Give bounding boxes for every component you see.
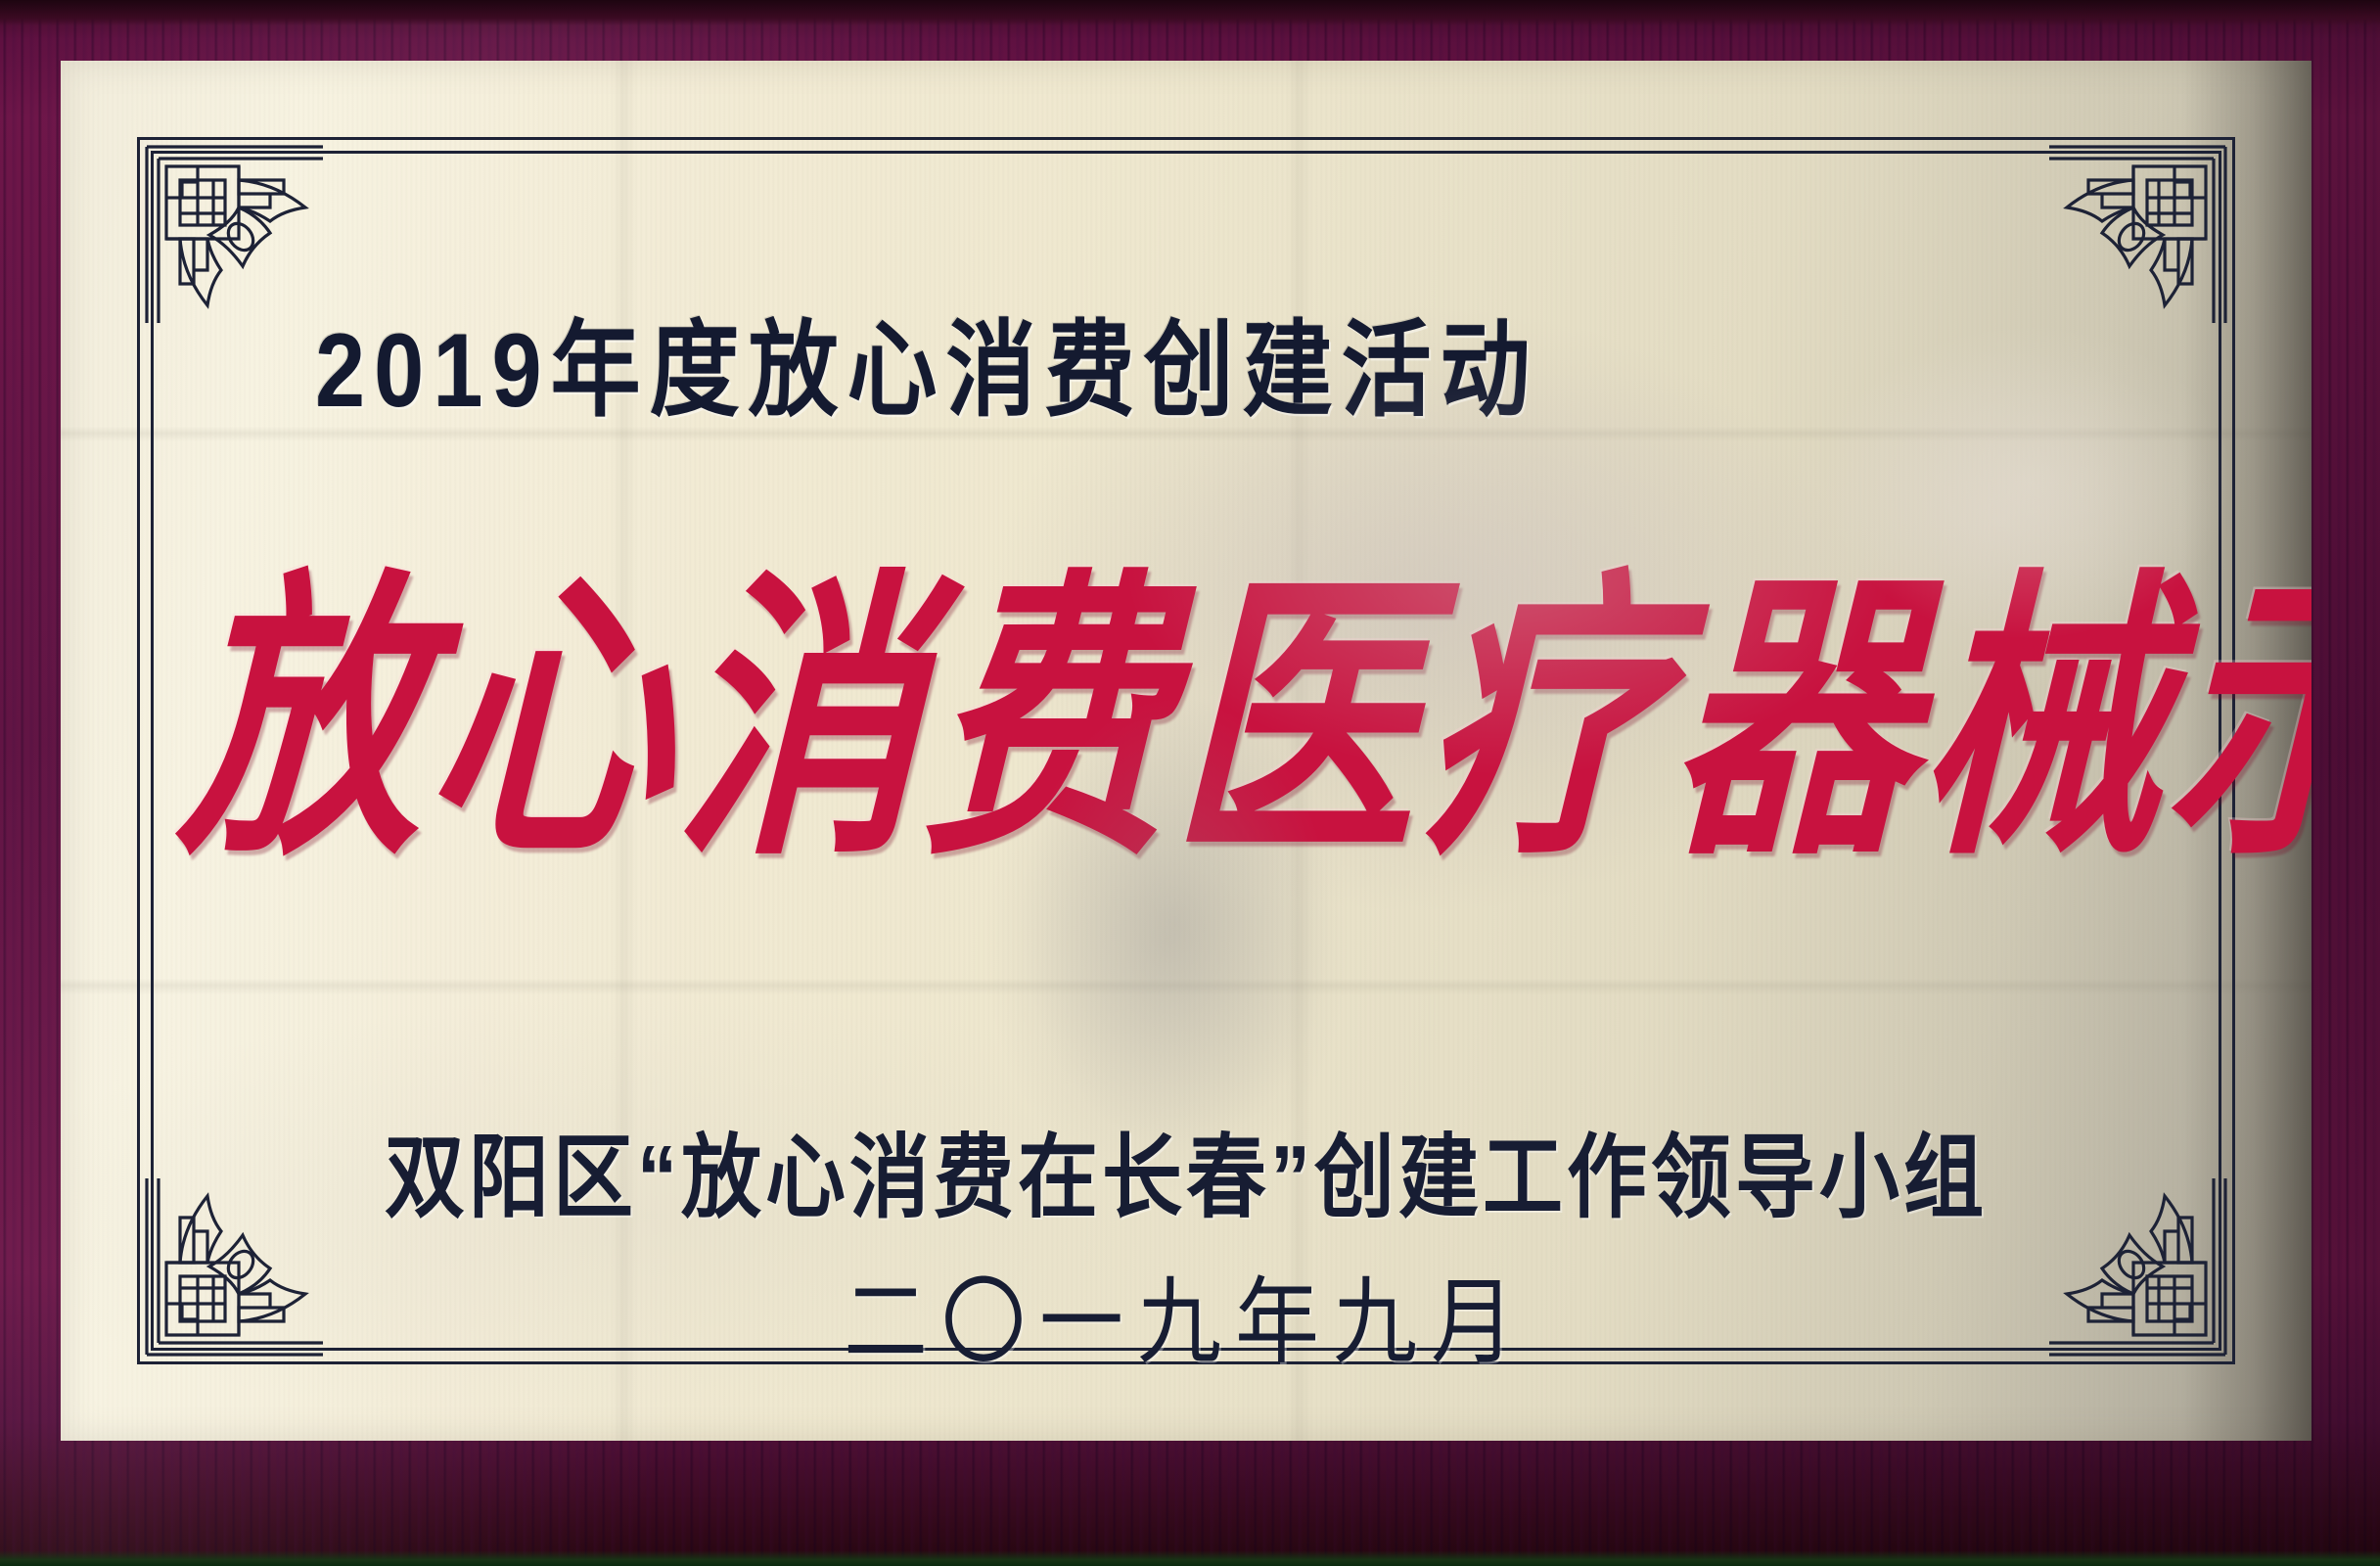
plaque-content: 2019年度放心消费创建活动 放心消费医疗器械示范店 双阳区“放心消费在长春”创… [188, 178, 2184, 1323]
metal-plate: 2019年度放心消费创建活动 放心消费医疗器械示范店 双阳区“放心消费在长春”创… [61, 61, 2311, 1441]
frame-top-edge [0, 0, 2380, 25]
award-headline: 放心消费医疗器械示范店 [175, 570, 2184, 871]
frame-bottom-edge [0, 1550, 2380, 1566]
issue-date: 二〇一九年九月 [188, 1245, 2184, 1382]
issuing-organization: 双阳区“放心消费在长春”创建工作领导小组 [188, 1103, 2184, 1236]
award-plaque: 2019年度放心消费创建活动 放心消费医疗器械示范店 双阳区“放心消费在长春”创… [0, 0, 2380, 1566]
activity-title: 2019年度放心消费创建活动 [315, 286, 1539, 437]
